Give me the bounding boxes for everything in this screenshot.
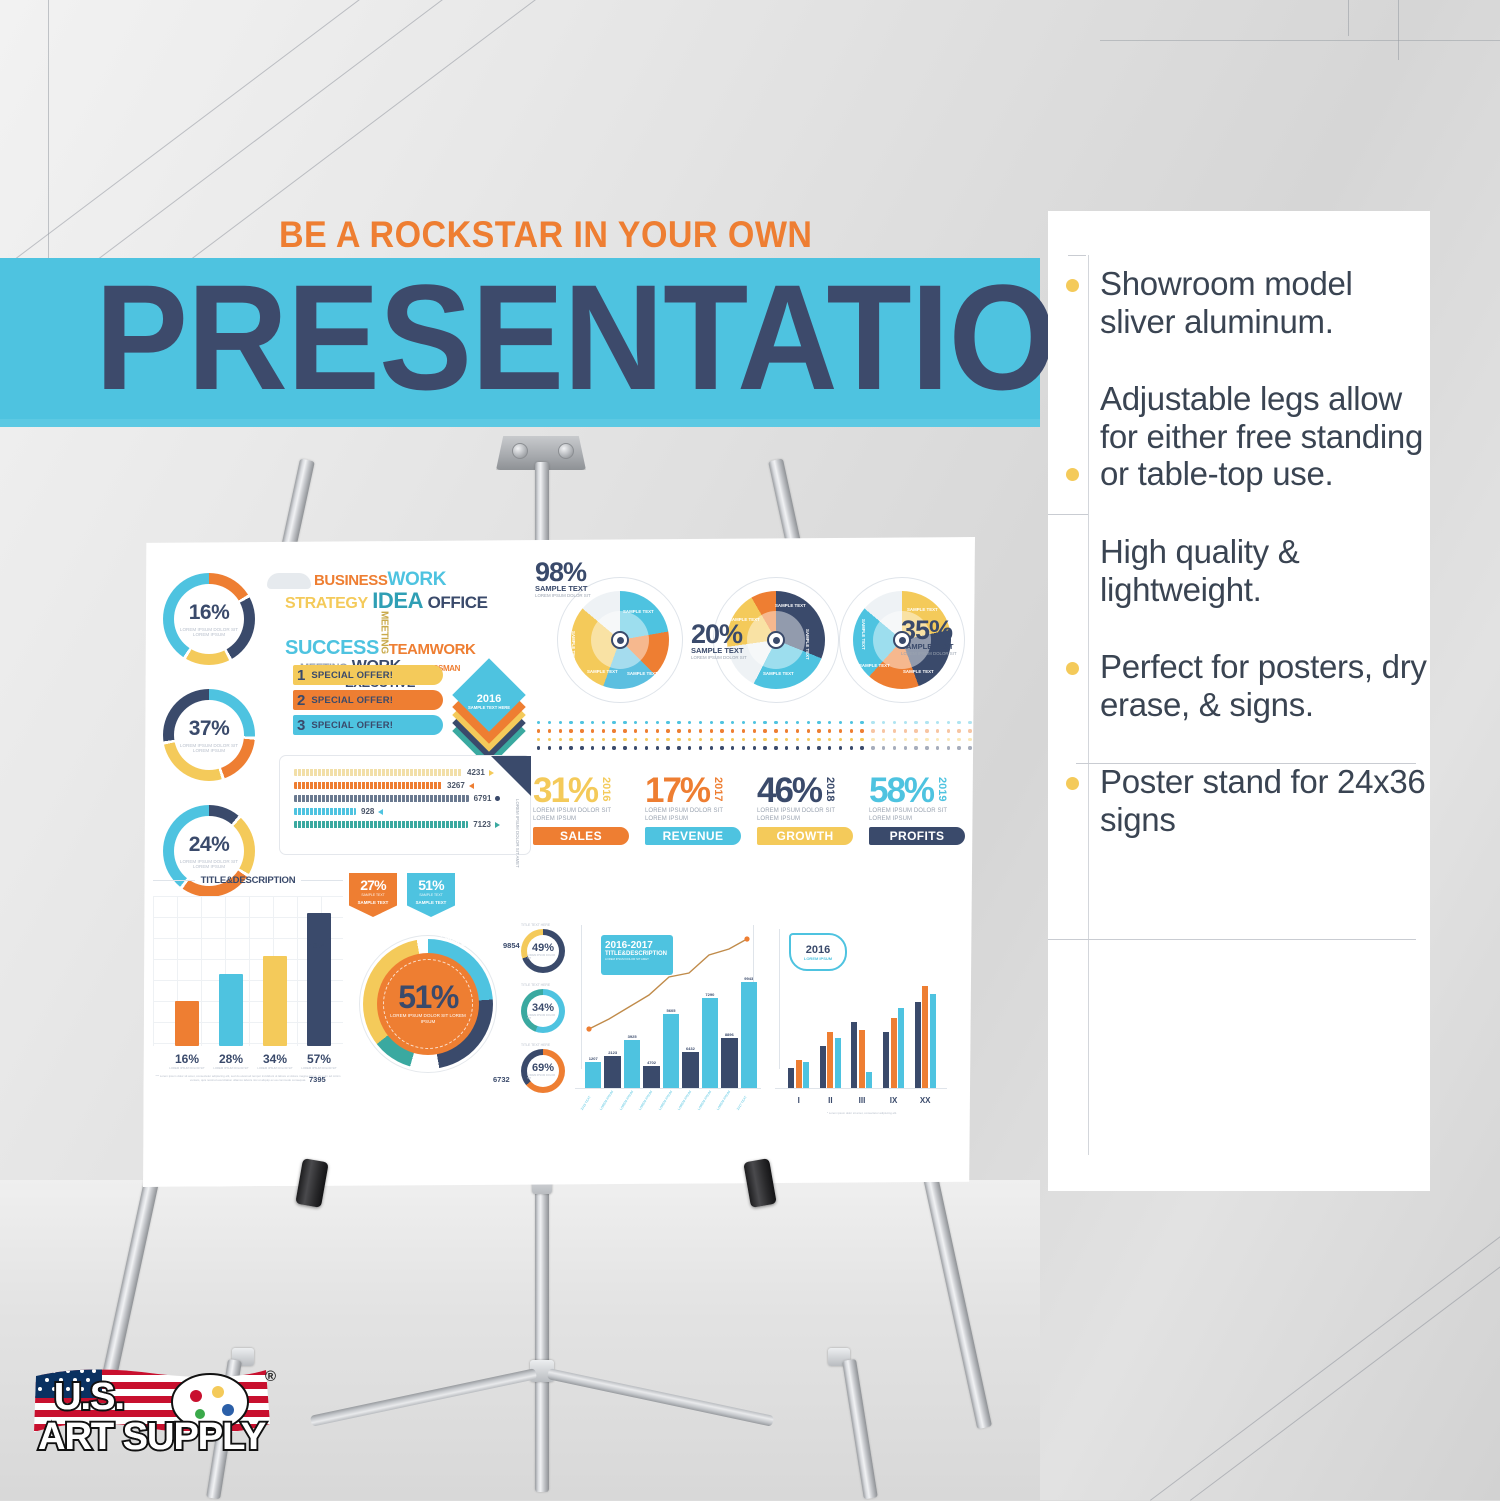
group-tag-sub: LOREM IPSUM xyxy=(804,956,832,961)
pie-98-callout: 98% SAMPLE TEXT LOREM IPSUM DOLOR SIT xyxy=(535,561,591,598)
dot xyxy=(537,721,540,724)
combo-bar-rect xyxy=(721,1038,737,1088)
panel-vertical-rule xyxy=(1088,255,1089,1155)
donut-value: 37% xyxy=(189,717,230,741)
dot xyxy=(796,721,799,724)
center-donut-sub: LOREM IPSUM DOLOR SIT LOREM IPSUM xyxy=(384,1013,472,1025)
badge-sub: LOREM IPSUM DOLOR SIT xyxy=(527,1014,559,1020)
dot xyxy=(559,729,562,732)
pie-sub: LOREM IPSUM DOLOR SIT xyxy=(691,655,747,660)
ribbon-percent: 51% xyxy=(418,877,444,893)
dot xyxy=(656,721,659,724)
combo-bar: 6432 xyxy=(682,970,698,1088)
group-bar-rect xyxy=(788,1068,794,1088)
group-tick-label: I xyxy=(788,1096,810,1105)
offer-number: 3 xyxy=(297,717,305,734)
dot xyxy=(936,721,939,724)
combo-bar: 8896 xyxy=(721,970,737,1088)
combo-bar-rect xyxy=(682,1052,698,1088)
bg-vertical-line xyxy=(1348,0,1349,36)
dot xyxy=(839,738,842,741)
dot xyxy=(548,721,551,724)
kpi-badge: GROWTH xyxy=(757,827,853,845)
kpi-revenue: 17% 2017 LOREM IPSUM DOLOR SIT LOREM IPS… xyxy=(645,777,741,845)
infographic-poster: 16% LOREM IPSUM DOLOR SIT LOREM IPSUM 37… xyxy=(143,537,975,1187)
chart-bar xyxy=(263,956,287,1046)
kpi-sub: LOREM IPSUM DOLOR SIT LOREM IPSUM xyxy=(869,808,961,823)
bullet-dot-icon xyxy=(1066,468,1079,481)
dot-row xyxy=(537,738,975,741)
bar-marker xyxy=(495,796,500,801)
pie-slice-label: SAMPLE TEXT xyxy=(903,669,934,674)
combo-bar-rect xyxy=(585,1062,601,1088)
offer-number: 1 xyxy=(297,667,305,684)
dot xyxy=(602,746,605,749)
dot xyxy=(602,738,605,741)
dot xyxy=(957,738,960,741)
pie-slice-label: SAMPLE TEXT xyxy=(859,663,890,668)
dot xyxy=(548,738,551,741)
dot xyxy=(666,721,669,724)
dot xyxy=(882,721,885,724)
dot xyxy=(936,729,939,732)
dot xyxy=(742,746,745,749)
donut-sub: LOREM IPSUM DOLOR SIT LOREM IPSUM xyxy=(174,743,244,754)
dot xyxy=(839,746,842,749)
combo-bar-rect xyxy=(702,998,718,1088)
dot xyxy=(947,738,950,741)
combo-bar: 2123 xyxy=(604,970,620,1088)
dot xyxy=(957,729,960,732)
panel-tick xyxy=(1048,514,1088,515)
dot xyxy=(957,721,960,724)
chart-bar xyxy=(219,974,243,1046)
circle-badge-49: TITLE TEXT HERE 49% LOREM IPSUM DOLOR SI… xyxy=(521,923,565,973)
kpi-percent: 17% xyxy=(645,777,709,805)
bullet-text: High quality & lightweight. xyxy=(1100,533,1430,608)
dot xyxy=(774,746,777,749)
bar-value: 7123 xyxy=(473,820,491,829)
dot xyxy=(763,746,766,749)
dot xyxy=(688,729,691,732)
dot xyxy=(882,746,885,749)
kpi-badge: REVENUE xyxy=(645,827,741,845)
dot xyxy=(947,729,950,732)
dot-row xyxy=(537,729,975,732)
dot xyxy=(925,746,928,749)
dot xyxy=(623,729,626,732)
group-tick-label: XX xyxy=(914,1096,936,1105)
group-bar-rect xyxy=(922,986,928,1088)
dot xyxy=(796,738,799,741)
bar-list-row: 4231 xyxy=(294,766,500,779)
group-bar-rect xyxy=(891,1018,897,1088)
dot xyxy=(634,729,637,732)
dot xyxy=(893,729,896,732)
dot xyxy=(602,721,605,724)
dot xyxy=(807,729,810,732)
dot xyxy=(548,729,551,732)
dot xyxy=(763,721,766,724)
circle-badge-34: TITLE TEXT HERE 34% LOREM IPSUM DOLOR SI… xyxy=(521,983,565,1033)
combo-bar: 5605 xyxy=(663,970,679,1088)
dot xyxy=(634,746,637,749)
bullet-dot-icon xyxy=(1066,662,1079,675)
dot xyxy=(612,746,615,749)
group-bar-rect xyxy=(827,1032,833,1088)
dot xyxy=(720,738,723,741)
dot xyxy=(612,738,615,741)
badge-year: 2016 xyxy=(477,693,501,705)
dot xyxy=(742,738,745,741)
dot xyxy=(699,729,702,732)
kpi-year: 2018 xyxy=(824,777,836,801)
dot xyxy=(904,721,907,724)
ribbon-sub: SAMPLE TEXT xyxy=(419,893,442,897)
dot xyxy=(591,721,594,724)
bullet-dot-icon xyxy=(1066,279,1079,292)
dot xyxy=(957,746,960,749)
dot xyxy=(796,746,799,749)
dot xyxy=(925,721,928,724)
bg-vertical-line xyxy=(1398,0,1399,60)
dot xyxy=(645,729,648,732)
kpi-profits: 58% 2019 LOREM IPSUM DOLOR SIT LOREM IPS… xyxy=(869,777,965,845)
bar-value: 928 xyxy=(361,807,374,816)
logo-line-2-fill: ART SUPPLY xyxy=(38,1416,265,1459)
dot xyxy=(699,721,702,724)
combo-tag: 2016-2017 TITLE&DESCRIPTION LOREM IPSUM … xyxy=(601,935,673,975)
bg-horizontal-line xyxy=(1100,40,1500,41)
group-tick-label: II xyxy=(819,1096,841,1105)
bar-value: 3267 xyxy=(447,781,465,790)
dot xyxy=(893,746,896,749)
kpi-sub: LOREM IPSUM DOLOR SIT LOREM IPSUM xyxy=(645,808,737,823)
dot xyxy=(785,738,788,741)
bar-marker xyxy=(489,770,494,776)
dot xyxy=(828,738,831,741)
dot xyxy=(612,729,615,732)
dot xyxy=(720,729,723,732)
dot xyxy=(623,738,626,741)
combo-bar-value: 5605 xyxy=(667,1008,676,1013)
dot xyxy=(634,721,637,724)
pie-slice-label: SAMPLE TEXT xyxy=(571,631,576,662)
panel-tick xyxy=(1048,939,1416,940)
pie-slice-label: SAMPLE TEXT xyxy=(627,671,658,676)
offer-label: SPECIAL OFFER! xyxy=(311,720,393,731)
dot xyxy=(871,746,874,749)
kpi-percent: 46% xyxy=(757,777,821,805)
combo-tag-note: LOREM IPSUM DOLOR SIT AMET xyxy=(605,957,669,961)
pie-label: SAMPLE TEXT xyxy=(535,584,591,593)
dot xyxy=(720,721,723,724)
dot xyxy=(914,746,917,749)
dot xyxy=(548,746,551,749)
pie-slice-label: SAMPLE TEXT xyxy=(623,609,654,614)
dot xyxy=(580,729,583,732)
offer-row[interactable]: 3SPECIAL OFFER! xyxy=(293,715,443,735)
dot xyxy=(731,738,734,741)
dot xyxy=(763,738,766,741)
kpi-sub: LOREM IPSUM DOLOR SIT LOREM IPSUM xyxy=(533,808,625,823)
bar-value: 4231 xyxy=(467,768,485,777)
ribbon-label: SAMPLE TEXT xyxy=(358,900,389,905)
bullet-text: Adjustable legs allow for either free st… xyxy=(1100,380,1430,493)
dot xyxy=(860,729,863,732)
ribbon-percent: 27% xyxy=(360,877,386,893)
dot xyxy=(591,746,594,749)
dot xyxy=(968,746,971,749)
combo-bar-rect xyxy=(643,1066,659,1088)
dot xyxy=(591,738,594,741)
combo-bar: 7290 xyxy=(702,970,718,1088)
dot xyxy=(774,729,777,732)
dot xyxy=(742,729,745,732)
combo-bar-value: 8896 xyxy=(725,1032,734,1037)
chart-bar xyxy=(307,913,331,1046)
brand-logo: U.S. U.S. ART SUPPLY ART SUPPLY ® xyxy=(28,1362,278,1474)
dot xyxy=(742,721,745,724)
bar-marker xyxy=(495,822,500,828)
combo-bar-rect xyxy=(741,982,757,1088)
combo-bar-value: 7290 xyxy=(705,992,714,997)
dot xyxy=(623,721,626,724)
dot xyxy=(612,721,615,724)
wc-word: IDEA xyxy=(372,588,423,613)
group-bar-rect xyxy=(915,1002,921,1088)
dot xyxy=(860,738,863,741)
bar-list-row: 7123 xyxy=(294,818,500,831)
badge-top-label: TITLE TEXT HERE xyxy=(521,1043,565,1047)
dot xyxy=(537,738,540,741)
badge-top-label: TITLE TEXT HERE xyxy=(521,983,565,987)
pie-label: SAMPLE TEXT xyxy=(691,646,747,655)
chart-bar xyxy=(175,1001,199,1046)
bar-list-row: 6791 xyxy=(294,792,500,805)
dot xyxy=(817,738,820,741)
badge-percent: 69% xyxy=(532,1062,554,1074)
dot xyxy=(785,746,788,749)
donut-callout: 9854 xyxy=(503,941,520,950)
badge-percent: 49% xyxy=(532,942,554,954)
dot xyxy=(828,721,831,724)
list-item: Poster stand for 24x36 signs xyxy=(1048,763,1430,838)
group-bar-rect xyxy=(851,1022,857,1088)
bar-marker xyxy=(469,783,474,789)
list-item: Perfect for posters, dry erase, & signs. xyxy=(1048,648,1430,723)
group-bar-rect xyxy=(803,1062,809,1088)
dot xyxy=(807,738,810,741)
bar-list-row: 3267 xyxy=(294,779,500,792)
dot xyxy=(807,746,810,749)
kpi-badge: PROFITS xyxy=(869,827,965,845)
group-bar-cluster xyxy=(883,973,904,1088)
group-bar-cluster xyxy=(820,973,841,1088)
wc-word: STRATEGY xyxy=(285,595,368,612)
combo-bar-value: 4702 xyxy=(647,1060,656,1065)
bar-marker xyxy=(378,809,383,815)
combo-bar-rect xyxy=(624,1040,640,1088)
dot xyxy=(850,729,853,732)
donut-callout: 7395 xyxy=(309,1075,326,1084)
dot xyxy=(634,738,637,741)
badge-percent: 34% xyxy=(532,1002,554,1014)
list-item: Showroom model sliver aluminum. xyxy=(1048,265,1430,340)
panel-tick xyxy=(1068,255,1086,256)
donut-callout: 6732 xyxy=(493,1075,510,1084)
group-bar-rect xyxy=(883,1032,889,1088)
wc-word-vertical: MEETING xyxy=(379,611,389,654)
dot xyxy=(871,738,874,741)
dot xyxy=(623,746,626,749)
donut-37: 37% LOREM IPSUM DOLOR SIT LOREM IPSUM xyxy=(163,689,255,781)
combo-bar: 3925 xyxy=(624,970,640,1088)
dot xyxy=(936,746,939,749)
group-bar-cluster xyxy=(915,973,936,1088)
chart-cat: 57% xyxy=(297,1052,341,1066)
combo-bar-value: 3925 xyxy=(628,1034,637,1039)
dot xyxy=(860,721,863,724)
dot xyxy=(656,729,659,732)
badge-sub: LOREM IPSUM DOLOR SIT xyxy=(527,954,559,960)
ribbon-badge-27: 27% SAMPLE TEXT SAMPLE TEXT xyxy=(349,873,397,917)
group-tag-year: 2016 xyxy=(806,944,830,956)
badge-sub: LOREM IPSUM DOLOR SIT xyxy=(527,1074,559,1080)
dot xyxy=(850,721,853,724)
combo-bar: 4702 xyxy=(643,970,659,1088)
bg-diagonal-line xyxy=(1150,1187,1500,1501)
dot xyxy=(559,721,562,724)
bullet-text: Perfect for posters, dry erase, & signs. xyxy=(1100,648,1430,723)
bar-list-row: 928 xyxy=(294,805,500,818)
offer-number: 2 xyxy=(297,692,305,709)
group-tick-label: III xyxy=(851,1096,873,1105)
feature-list-panel: Showroom model sliver aluminum. Adjustab… xyxy=(1048,211,1430,1191)
dot xyxy=(968,738,971,741)
list-item: Adjustable legs allow for either free st… xyxy=(1048,380,1430,493)
chart-cat: 16% xyxy=(165,1052,209,1066)
barpanel-side-label: LOREM IPSUM DOLOR SIT AMET xyxy=(515,799,520,868)
kpi-year: 2017 xyxy=(712,777,724,801)
dot xyxy=(569,746,572,749)
dot xyxy=(925,729,928,732)
kpi-year: 2019 xyxy=(936,777,948,801)
dot xyxy=(839,729,842,732)
dot xyxy=(839,721,842,724)
group-bar-cluster xyxy=(788,973,809,1088)
circle-badge-69: TITLE TEXT HERE 69% LOREM IPSUM DOLOR SI… xyxy=(521,1043,565,1093)
special-offers: 1SPECIAL OFFER! 2SPECIAL OFFER! 3SPECIAL… xyxy=(293,665,443,740)
ribbon-badge-51: 51% SAMPLE TEXT SAMPLE TEXT xyxy=(407,873,455,917)
dot xyxy=(850,746,853,749)
dot-row xyxy=(537,721,975,724)
easel-bolt xyxy=(558,443,574,459)
dot xyxy=(817,721,820,724)
dot xyxy=(904,729,907,732)
kpi-year: 2016 xyxy=(600,777,612,801)
donut-sub: LOREM IPSUM DOLOR SIT LOREM IPSUM xyxy=(174,859,244,870)
dot xyxy=(753,729,756,732)
dot xyxy=(569,729,572,732)
dot xyxy=(666,729,669,732)
registered-mark: ® xyxy=(265,1368,276,1385)
dot xyxy=(677,721,680,724)
group-bar-rect xyxy=(898,1008,904,1088)
dot xyxy=(753,738,756,741)
combo-bar-value: 1207 xyxy=(589,1056,598,1061)
dot xyxy=(688,721,691,724)
dot xyxy=(666,738,669,741)
center-donut-51: 51% LOREM IPSUM DOLOR SIT LOREM IPSUM LO… xyxy=(353,929,503,1079)
bullet-list: Showroom model sliver aluminum. Adjustab… xyxy=(1048,211,1430,839)
dot xyxy=(828,746,831,749)
pie-slice-label: SAMPLE TEXT xyxy=(805,629,810,660)
list-item: High quality & lightweight. xyxy=(1048,533,1430,608)
dot xyxy=(688,738,691,741)
dot xyxy=(882,738,885,741)
group-bar-rect xyxy=(930,994,936,1088)
group-footnote: * Lorem ipsum dolor sit amet, consectetu… xyxy=(783,1111,941,1115)
dot xyxy=(677,738,680,741)
group-bar-rect xyxy=(866,1072,872,1088)
chart-cat: 34% xyxy=(253,1052,297,1066)
offer-row[interactable]: 1SPECIAL OFFER! xyxy=(293,665,443,685)
easel-bolt xyxy=(512,443,528,459)
dot xyxy=(710,729,713,732)
dot xyxy=(785,729,788,732)
dot-pattern-band xyxy=(537,721,975,755)
dot xyxy=(871,729,874,732)
group-chart-2016: 2016 LOREM IPSUM IIIIIIIXXX * Lorem ipsu… xyxy=(775,925,947,1115)
dot-row xyxy=(537,746,975,749)
stacked-diamond-badge: 2016 SAMPLE TEXT HERE xyxy=(455,665,527,741)
dot xyxy=(591,729,594,732)
dot xyxy=(720,746,723,749)
dot xyxy=(753,721,756,724)
dot xyxy=(580,746,583,749)
dot xyxy=(785,721,788,724)
kpi-growth: 46% 2018 LOREM IPSUM DOLOR SIT LOREM IPS… xyxy=(757,777,853,845)
pie-sub: LOREM IPSUM DOLOR SIT xyxy=(535,593,591,598)
pie-20-callout: 20% SAMPLE TEXT LOREM IPSUM DOLOR SIT xyxy=(691,623,747,660)
donut-value: 16% xyxy=(189,601,230,625)
bullet-text: Poster stand for 24x36 signs xyxy=(1100,763,1430,838)
title-description-chart: TITLE&DESCRIPTION 16% LOREM IPSUM DOLOR … xyxy=(153,875,343,1125)
dot xyxy=(645,746,648,749)
dot xyxy=(731,721,734,724)
dot xyxy=(817,746,820,749)
pie-slice-label: SAMPLE TEXT xyxy=(587,669,618,674)
bg-diagonal-line xyxy=(1190,1187,1500,1501)
badge-top-label: TITLE TEXT HERE xyxy=(521,923,565,927)
dot xyxy=(936,738,939,741)
dot xyxy=(893,721,896,724)
combo-chart-2016-2017: 2016-2017 TITLE&DESCRIPTION LOREM IPSUM … xyxy=(575,925,761,1115)
offer-row[interactable]: 2SPECIAL OFFER! xyxy=(293,690,443,710)
logo-line-1-fill: U.S. xyxy=(54,1376,124,1419)
dot xyxy=(645,721,648,724)
kicker-text: BE A ROCKSTAR IN YOUR OWN xyxy=(279,214,812,256)
group-bar-cluster xyxy=(851,973,872,1088)
dot xyxy=(871,721,874,724)
dot xyxy=(850,738,853,741)
group-tag: 2016 LOREM IPSUM xyxy=(789,933,847,971)
bullet-dot-icon xyxy=(1066,777,1079,790)
combo-bar-value: 6432 xyxy=(686,1046,695,1051)
dot xyxy=(914,738,917,741)
dot xyxy=(602,729,605,732)
